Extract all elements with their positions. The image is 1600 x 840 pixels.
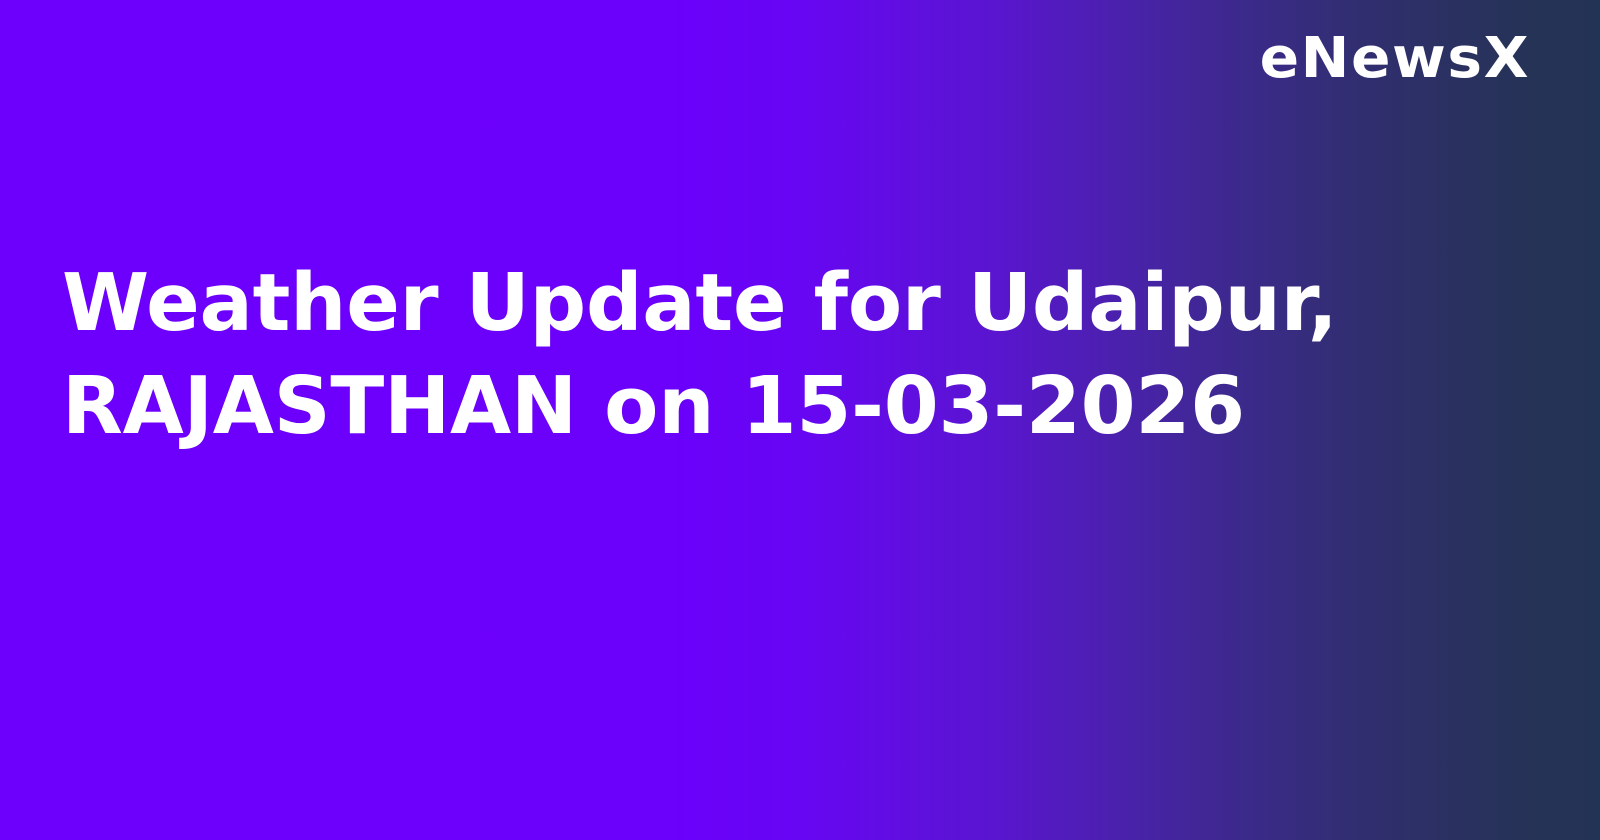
headline-block: Weather Update for Udaipur, RAJASTHAN on… — [62, 252, 1482, 458]
brand-logo[interactable]: eNewsX — [1270, 28, 1530, 90]
news-banner: eNewsX Weather Update for Udaipur, RAJAS… — [0, 0, 1600, 840]
brand-wordmark-text: eNewsX — [1260, 31, 1530, 87]
page-title: Weather Update for Udaipur, RAJASTHAN on… — [62, 252, 1482, 458]
